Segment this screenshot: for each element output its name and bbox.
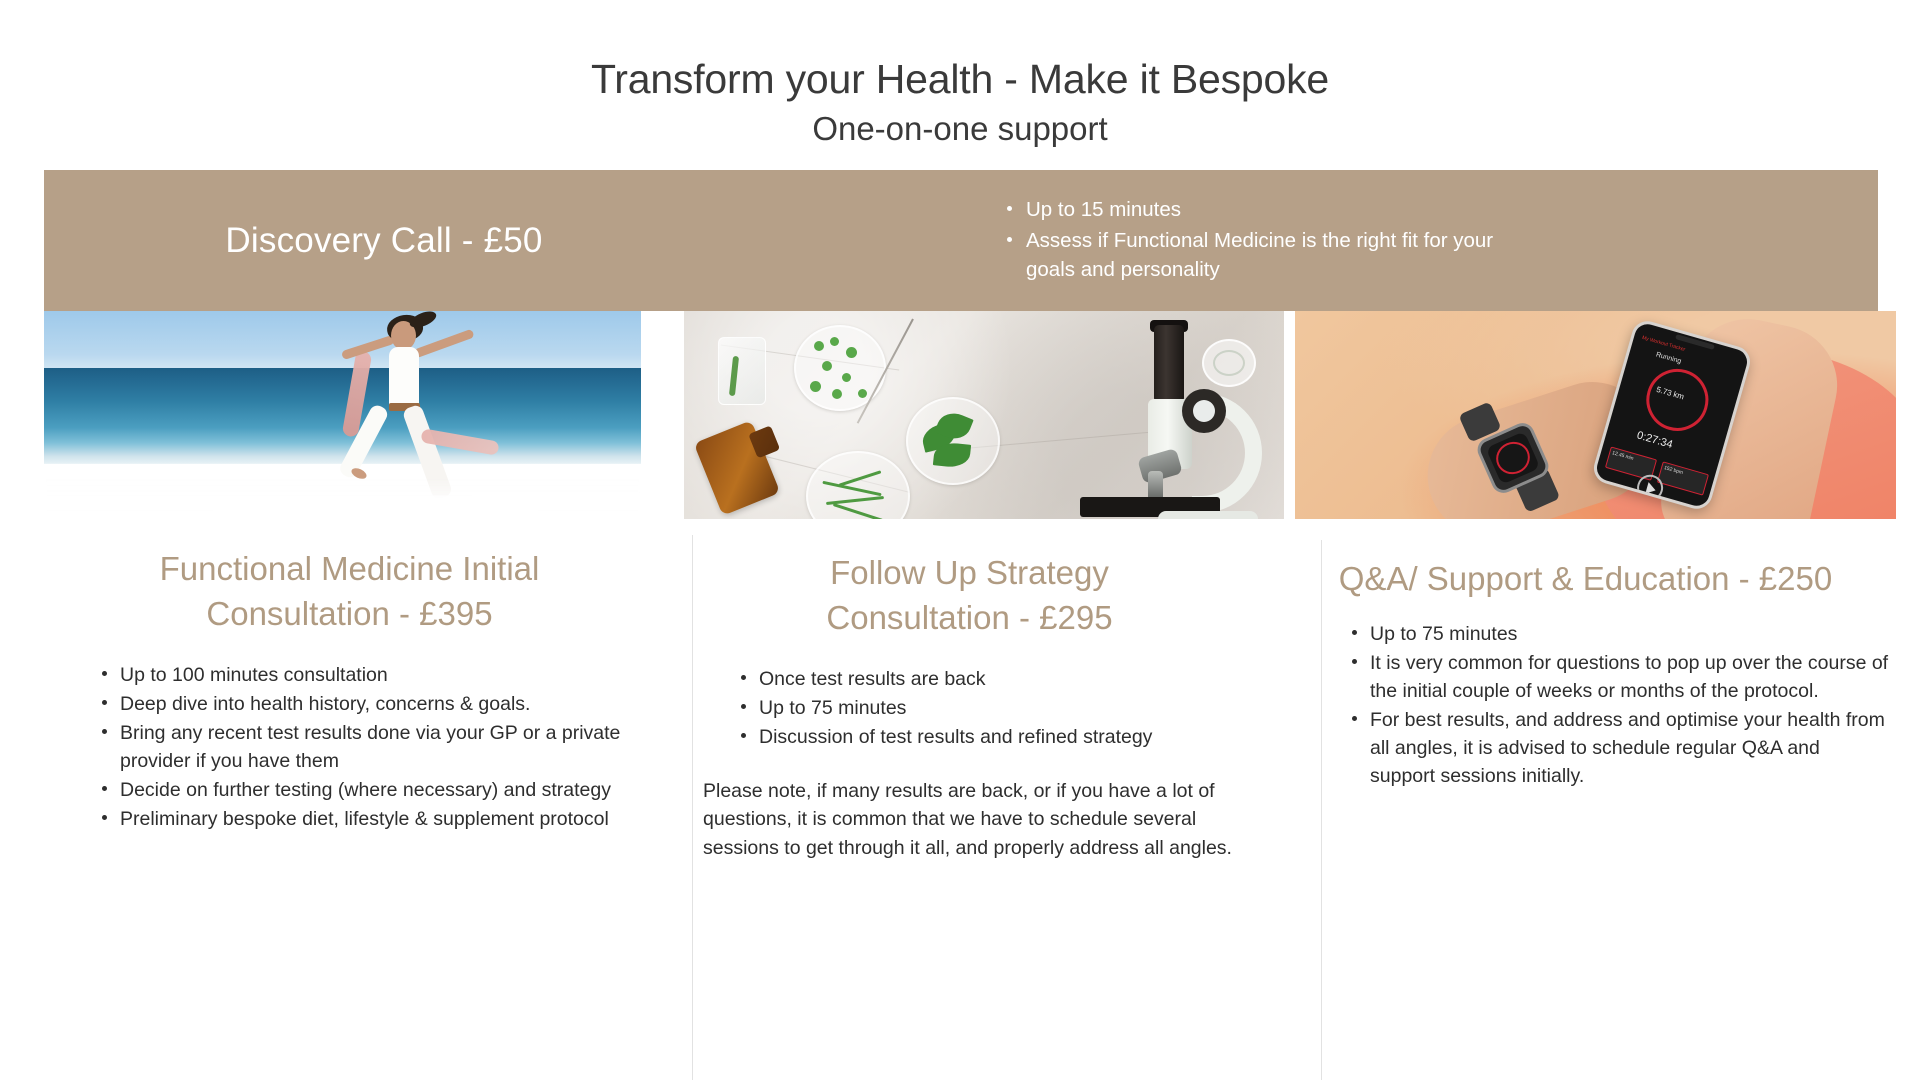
microscope — [1062, 325, 1272, 515]
knob-center — [1193, 400, 1215, 422]
discovery-call-banner: Discovery Call - £50 Up to 15 minutes As… — [44, 170, 1878, 311]
banner-bullets-wrap: Up to 15 minutes Assess if Functional Me… — [664, 195, 1878, 286]
list-item: Bring any recent test results done via y… — [94, 719, 624, 775]
petri-dish-rosemary — [806, 451, 910, 519]
list-item: Up to 15 minutes — [1000, 195, 1545, 224]
list-item: Decide on further testing (where necessa… — [94, 776, 624, 804]
card-body: Follow Up Strategy Consultation - £295 O… — [655, 551, 1266, 862]
card-bullet-list: Up to 100 minutes consultation Deep dive… — [94, 661, 624, 833]
page-header: Transform your Health - Make it Bespoke … — [0, 54, 1920, 149]
petri-dish-seeds — [794, 325, 886, 411]
banner-title: Discovery Call - £50 — [104, 221, 664, 261]
seed-shape — [832, 389, 842, 399]
list-item: Preliminary bespoke diet, lifestyle & su… — [94, 805, 624, 833]
banner-bullet-list: Up to 15 minutes Assess if Functional Me… — [1000, 195, 1838, 284]
seed-shape — [858, 389, 867, 398]
card-body: Q&A/ Support & Education - £250 Up to 75… — [1266, 557, 1877, 790]
list-item: Deep dive into health history, concerns … — [94, 690, 624, 718]
clear-glass-jar — [718, 337, 766, 405]
list-item: Discussion of test results and refined s… — [733, 723, 1263, 751]
focus-knob — [1182, 389, 1226, 433]
rosemary-sprig — [822, 481, 881, 496]
card-title: Functional Medicine Initial Consultation… — [44, 547, 655, 637]
service-columns: Functional Medicine Initial Consultation… — [44, 311, 1878, 1080]
card-bullet-list: Once test results are back Up to 75 minu… — [733, 665, 1263, 751]
card-title: Q&A/ Support & Education - £250 — [1294, 557, 1877, 602]
surf-foam-detail — [44, 495, 641, 511]
activity-label: Running — [1655, 351, 1682, 365]
service-card-qa-support: My Workout Tracker Running 5.73 km 0:27:… — [1266, 311, 1877, 1080]
right-arm-shape — [413, 329, 474, 359]
seed-shape — [810, 381, 821, 392]
petri-dish-basil — [906, 397, 1000, 485]
bottle-neck — [748, 425, 780, 458]
list-item: Once test results are back — [733, 665, 1263, 693]
woman-jumping-on-beach-photo — [44, 311, 641, 515]
service-card-initial-consultation: Functional Medicine Initial Consultation… — [44, 311, 655, 1080]
seed-shape — [822, 361, 832, 371]
list-item: Up to 75 minutes — [733, 694, 1263, 722]
rosemary-sprig — [839, 470, 882, 486]
duration-value: 0:27:34 — [1635, 429, 1674, 451]
banner-title-wrap: Discovery Call - £50 — [44, 221, 664, 261]
card-note: Please note, if many results are back, o… — [703, 777, 1269, 862]
card-bullet-list: Up to 75 minutes It is very common for q… — [1344, 620, 1889, 790]
fitness-tracker-phone-smartwatch-photo: My Workout Tracker Running 5.73 km 0:27:… — [1295, 311, 1896, 519]
amber-bottle — [694, 420, 781, 516]
torso-shape — [389, 347, 419, 409]
list-item: Assess if Functional Medicine is the rig… — [1000, 226, 1545, 284]
list-item: Up to 100 minutes consultation — [94, 661, 624, 689]
page-title: Transform your Health - Make it Bespoke — [0, 54, 1920, 104]
seed-shape — [842, 373, 851, 382]
list-item: It is very common for questions to pop u… — [1344, 649, 1889, 705]
seed-shape — [846, 347, 857, 358]
seed-shape — [830, 337, 839, 346]
page-subtitle: One-on-one support — [0, 108, 1920, 149]
service-card-follow-up: Follow Up Strategy Consultation - £295 O… — [655, 311, 1266, 1080]
card-body: Functional Medicine Initial Consultation… — [44, 547, 655, 833]
seed-shape — [814, 341, 824, 351]
heart-rate-value: 152 bpm — [1657, 461, 1709, 495]
herb-in-jar — [729, 356, 739, 396]
page-root: Transform your Health - Make it Bespoke … — [0, 0, 1920, 1080]
list-item: For best results, and address and optimi… — [1344, 706, 1889, 790]
eyepiece-tube — [1154, 325, 1184, 403]
microscope-herbs-lab-photo — [684, 311, 1284, 519]
list-item: Up to 75 minutes — [1344, 620, 1889, 648]
card-title: Follow Up Strategy Consultation - £295 — [673, 551, 1266, 641]
microscope-base — [1158, 511, 1258, 519]
rosemary-sprig — [833, 503, 883, 519]
